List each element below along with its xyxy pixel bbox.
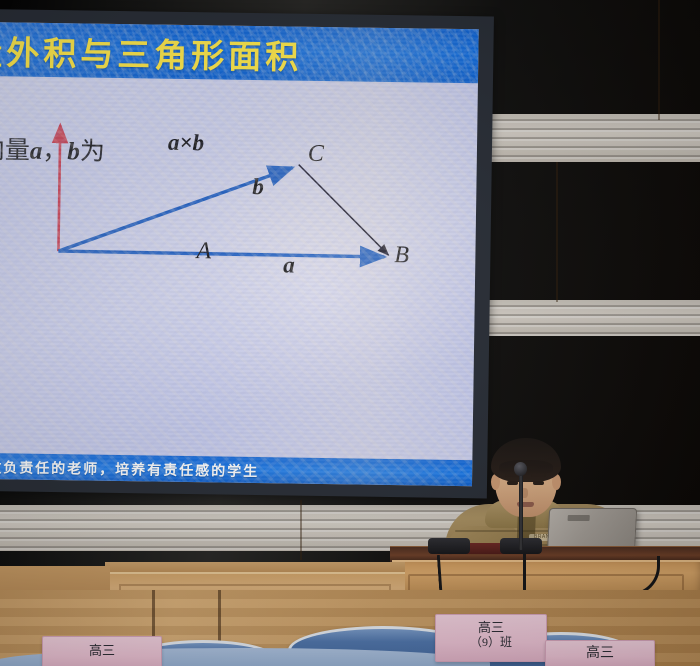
vertex-label-b: B <box>394 242 409 269</box>
projection-screen: 量外积与三角形面积 向量a，b为 <box>0 22 479 486</box>
edge-c-to-b <box>297 165 389 255</box>
presenter-eye-right <box>533 481 544 485</box>
vertex-label-c: C <box>308 141 324 168</box>
cross-product-label: a×b <box>168 130 204 157</box>
laptop-logo-icon <box>568 515 590 521</box>
wall-panel-seam-low <box>300 500 302 560</box>
name-card-left-line1: 高三 <box>89 643 115 658</box>
name-card-left: 高三 <box>42 636 162 666</box>
presenter-eyebrow-right <box>531 474 546 477</box>
triangle-diagram-svg <box>15 72 479 379</box>
slide-title: 量外积与三角形面积 <box>0 26 303 79</box>
name-card-center: 高三 （9）班 <box>435 614 547 662</box>
presenter-eye-left <box>507 481 518 485</box>
microphone-head-icon <box>514 462 527 476</box>
vector-b-label: b <box>252 174 264 200</box>
name-card-right: 高三 <box>545 640 655 666</box>
wall-panel-seam-right <box>658 0 660 120</box>
vector-a-label: a <box>283 252 295 278</box>
name-card-center-line1: 高三 <box>478 620 504 635</box>
vector-triangle-figure: a×b A B C a b <box>15 72 479 379</box>
classroom-photo: 量外积与三角形面积 向量a，b为 <box>0 0 700 666</box>
microphone-stem <box>519 468 523 550</box>
microphone-base-left <box>428 538 470 554</box>
vertex-label-a: A <box>196 238 211 265</box>
vector-cross-product-arrow <box>58 125 60 251</box>
presenter-hair <box>491 438 561 482</box>
vector-a-arrow <box>58 251 384 257</box>
projection-screen-bezel: 量外积与三角形面积 向量a，b为 <box>0 9 494 498</box>
name-card-right-line1: 高三 <box>586 646 614 661</box>
wall-panel-seam-mid <box>556 162 558 302</box>
name-card-center-line2: （9）班 <box>436 636 546 650</box>
slide-footer-text: ，做负责任的老师，培养有责任感的学生 <box>0 457 259 481</box>
